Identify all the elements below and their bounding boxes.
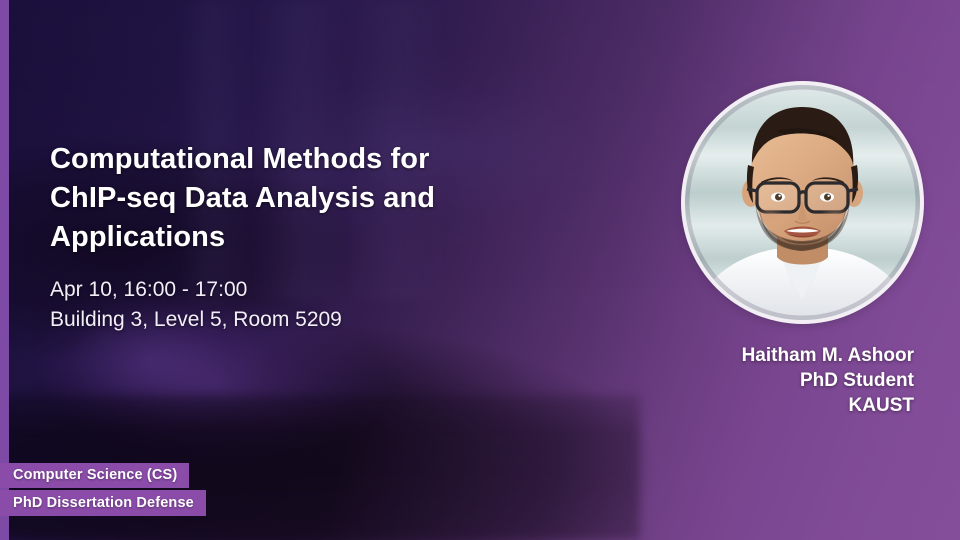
status-badge-event-type: PhD Dissertation Defense bbox=[0, 490, 206, 516]
event-location: Building 3, Level 5, Room 5209 bbox=[50, 305, 570, 335]
title-line-1: Computational Methods for bbox=[50, 140, 570, 179]
title-line-2: ChIP-seq Data Analysis and bbox=[50, 179, 570, 218]
event-schedule: Apr 10, 16:00 - 17:00 bbox=[50, 275, 570, 305]
speaker-info: Haitham M. Ashoor PhD Student KAUST bbox=[742, 343, 914, 418]
speaker-portrait-illustration bbox=[685, 85, 920, 320]
speaker-affiliation: KAUST bbox=[742, 393, 914, 418]
left-accent-stripe bbox=[0, 0, 9, 540]
status-badge-department: Computer Science (CS) bbox=[0, 463, 189, 488]
page-title: Computational Methods for ChIP-seq Data … bbox=[50, 140, 570, 257]
event-details: Apr 10, 16:00 - 17:00 Building 3, Level … bbox=[50, 275, 570, 335]
speaker-role: PhD Student bbox=[742, 368, 914, 393]
avatar bbox=[685, 85, 920, 320]
title-line-3: Applications bbox=[50, 218, 570, 257]
speaker-name: Haitham M. Ashoor bbox=[742, 343, 914, 368]
seminar-announcement-slide: Computational Methods for ChIP-seq Data … bbox=[0, 0, 960, 540]
